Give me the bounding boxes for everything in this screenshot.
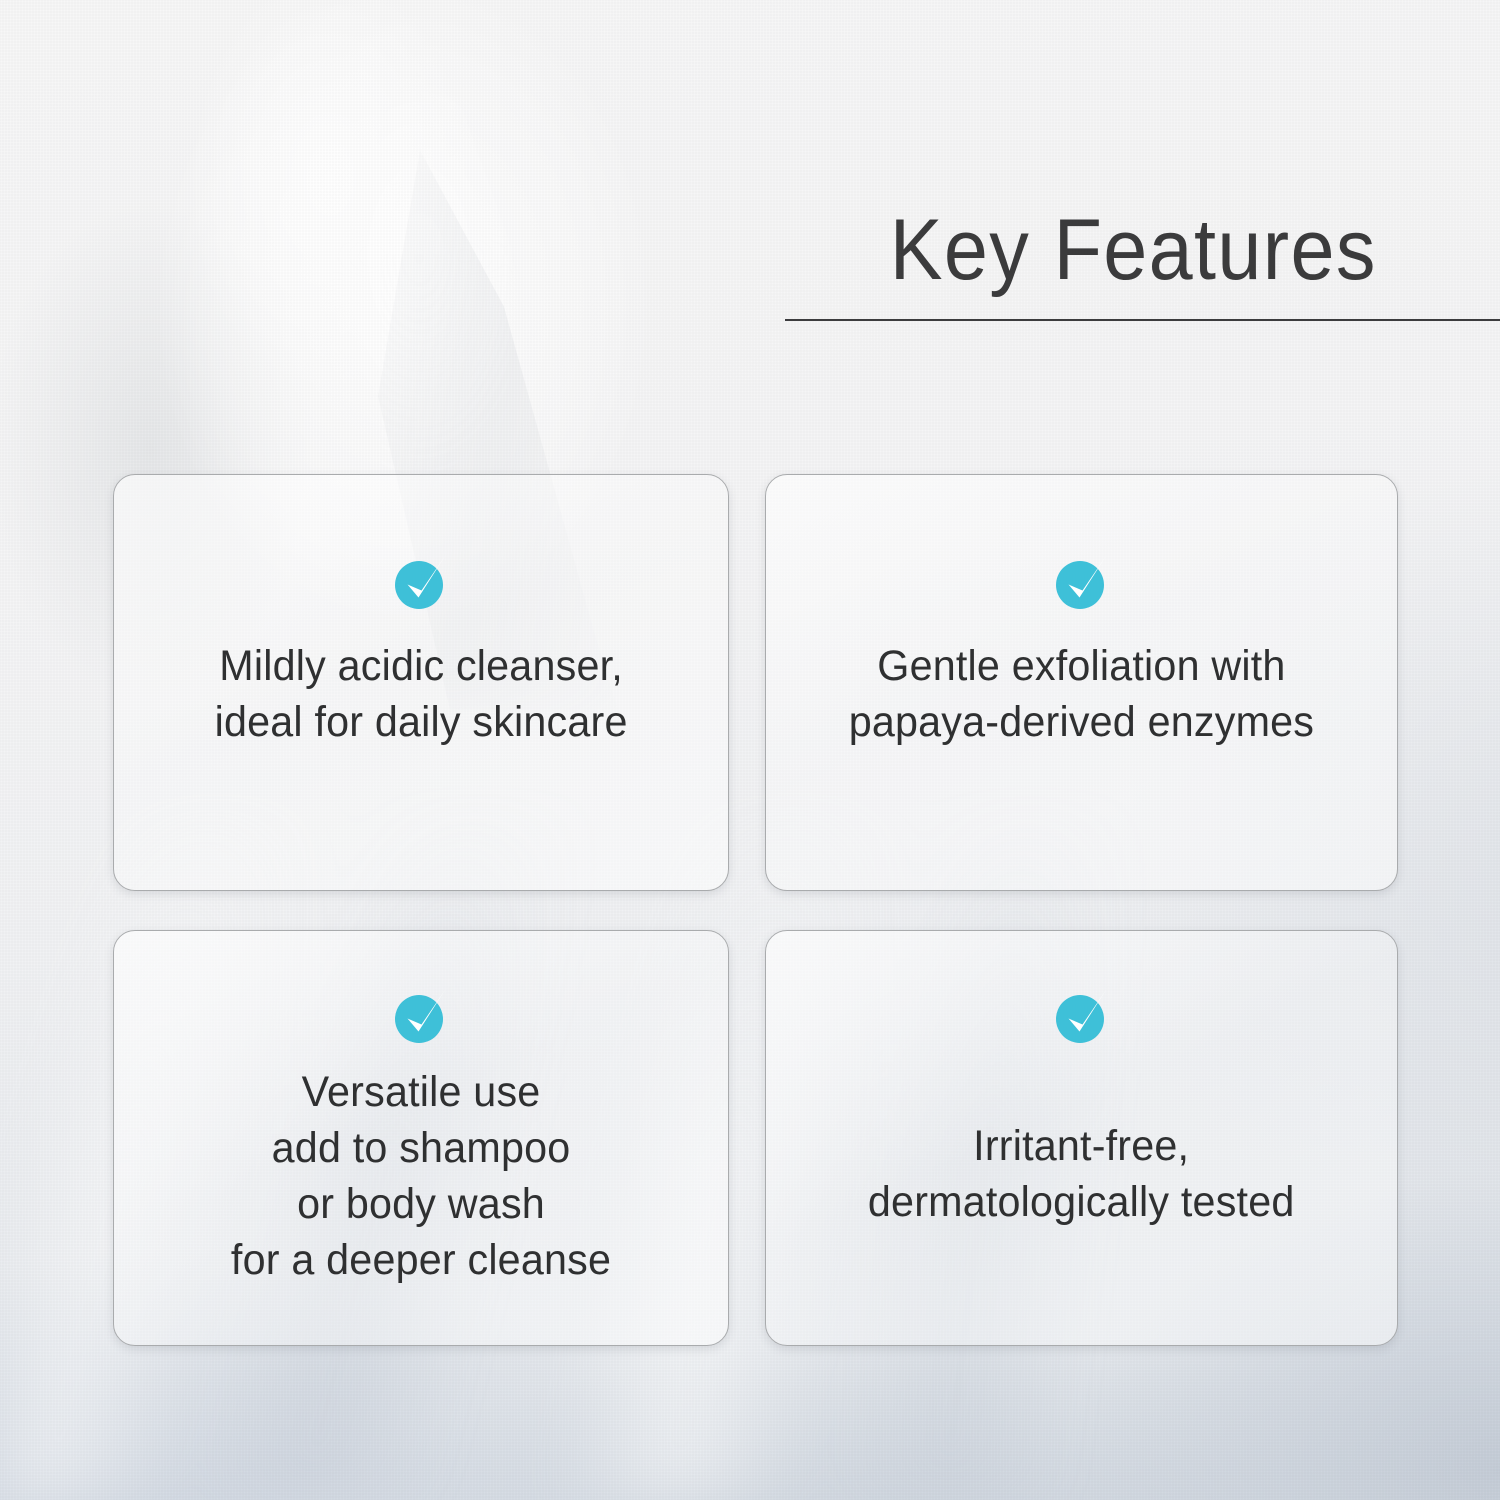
check-circle-icon <box>1049 547 1115 613</box>
check-circle-icon <box>388 981 454 1047</box>
feature-card-text: Irritant-free, dermatologically tested <box>868 1119 1295 1231</box>
check-circle-icon <box>388 547 454 613</box>
feature-card-text: Versatile use add to shampoo or body was… <box>231 1065 611 1289</box>
feature-card-2: Gentle exfoliation with papaya-derived e… <box>765 474 1398 891</box>
feature-card-1: Mildly acidic cleanser, ideal for daily … <box>113 474 729 891</box>
feature-card-4: Irritant-free, dermatologically tested <box>765 930 1398 1346</box>
title-divider <box>785 319 1500 321</box>
header: Key Features <box>785 205 1500 295</box>
feature-card-3: Versatile use add to shampoo or body was… <box>113 930 729 1346</box>
feature-card-text: Gentle exfoliation with papaya-derived e… <box>849 639 1314 751</box>
feature-card-text: Mildly acidic cleanser, ideal for daily … <box>214 639 627 751</box>
check-circle-icon <box>1049 981 1115 1047</box>
page-title: Key Features <box>814 205 1472 295</box>
